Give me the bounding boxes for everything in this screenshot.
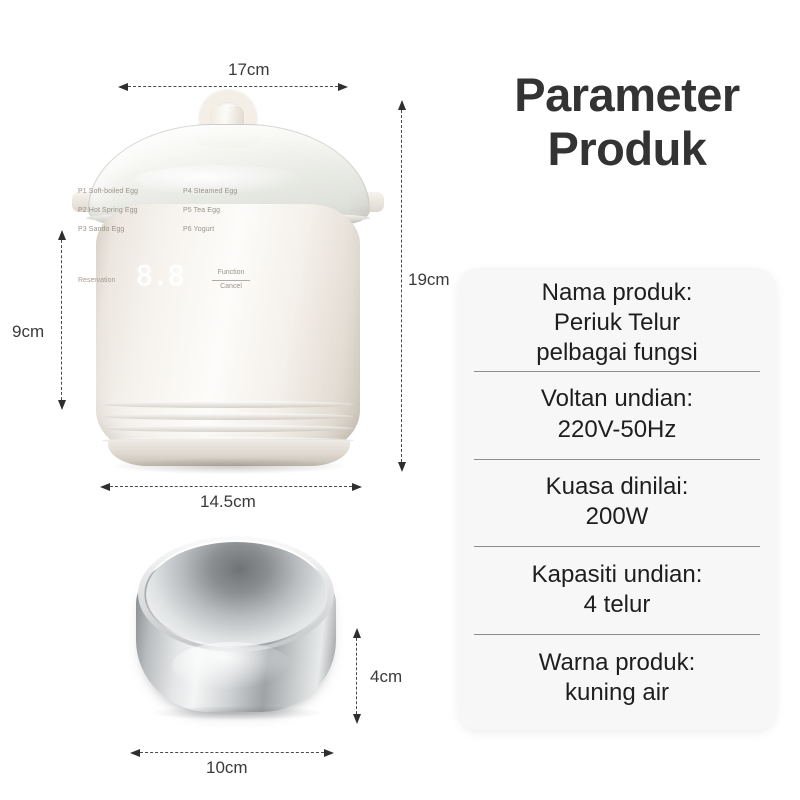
- dimension-arrow-bowl-diameter: [130, 748, 334, 757]
- program-label-p2[interactable]: P2 Hot Spring Egg: [78, 207, 164, 214]
- arrow-head-left-icon: [130, 749, 140, 757]
- spec-row-capacity: Kapasiti undian: 4 telur: [458, 546, 776, 634]
- cooker-rib: [102, 425, 354, 432]
- dimension-label-bowl-height: 4cm: [370, 667, 402, 687]
- spec-label: Nama produk:: [542, 278, 693, 308]
- bowl-highlight: [172, 642, 292, 690]
- cancel-label: Cancel: [206, 282, 256, 293]
- dimension-line: [356, 638, 357, 714]
- spec-value: kuning air: [565, 678, 669, 708]
- spec-row-power: Kuasa dinilai: 200W: [458, 459, 776, 547]
- spec-label: Voltan undian:: [541, 384, 693, 414]
- page-title: Parameter Produk: [462, 68, 792, 176]
- dimension-label-cooker-total-height: 19cm: [408, 270, 450, 290]
- dimension-line: [401, 110, 402, 462]
- dimension-arrow-cooker-total-height: [397, 100, 406, 472]
- arrow-head-right-icon: [352, 483, 362, 491]
- arrow-head-down-icon: [353, 714, 361, 724]
- dimension-label-cooker-body-height: 9cm: [12, 322, 44, 342]
- dimension-line: [140, 752, 324, 753]
- arrow-head-left-icon: [118, 83, 128, 91]
- arrow-head-down-icon: [58, 400, 66, 410]
- control-panel-bottom-row: Reservation 8.8 Function Cancel: [78, 266, 258, 296]
- program-label-p6[interactable]: P6 Yogurt: [183, 226, 269, 233]
- dimension-line: [61, 240, 62, 400]
- dimension-label-cooker-top-width: 17cm: [228, 60, 270, 80]
- steel-bowl-image: [128, 538, 344, 728]
- dimension-line: [110, 486, 352, 487]
- reservation-button[interactable]: Reservation: [78, 277, 115, 284]
- program-label-p4[interactable]: P4 Steamed Egg: [183, 188, 269, 195]
- function-cancel-divider: [212, 280, 250, 281]
- program-label-p1[interactable]: P1 Soft-boiled Egg: [78, 188, 164, 195]
- arrow-head-up-icon: [398, 100, 406, 110]
- dimension-label-bowl-diameter: 10cm: [206, 758, 248, 778]
- arrow-head-up-icon: [58, 230, 66, 240]
- dimension-arrow-bowl-height: [352, 628, 361, 724]
- spec-value: 220V-50Hz: [558, 415, 677, 445]
- cooker-rib: [102, 401, 354, 408]
- spec-value: 4 telur: [584, 590, 651, 620]
- arrow-head-right-icon: [338, 83, 348, 91]
- function-cancel-button[interactable]: Function Cancel: [206, 268, 256, 293]
- cooker-rib: [102, 413, 354, 420]
- spec-value: 200W: [586, 502, 649, 532]
- program-label-p5[interactable]: P5 Tea Egg: [183, 207, 269, 214]
- infographic-canvas: Parameter Produk Nama produk: Periuk Tel…: [0, 0, 800, 800]
- dimension-line: [128, 86, 338, 87]
- cooker-drop-shadow: [112, 458, 346, 474]
- page-title-line-1: Parameter: [462, 68, 792, 122]
- program-column-right: P4 Steamed Egg P5 Tea Egg P6 Yogurt: [183, 188, 269, 245]
- arrow-head-down-icon: [398, 462, 406, 472]
- spec-label: Kapasiti undian:: [532, 560, 703, 590]
- control-panel: P1 Soft-boiled Egg P2 Hot Spring Egg P3 …: [78, 188, 258, 298]
- function-label: Function: [206, 268, 256, 279]
- dimension-arrow-cooker-top-width: [118, 82, 348, 91]
- program-label-p3[interactable]: P3 Sando Egg: [78, 226, 164, 233]
- spec-row-color: Warna produk: kuning air: [458, 634, 776, 722]
- spec-label: Kuasa dinilai:: [546, 472, 689, 502]
- arrow-head-up-icon: [353, 628, 361, 638]
- dimension-arrow-cooker-base-width: [100, 482, 362, 491]
- program-column-left: P1 Soft-boiled Egg P2 Hot Spring Egg P3 …: [78, 188, 164, 245]
- arrow-head-right-icon: [324, 749, 334, 757]
- page-title-line-2: Produk: [462, 122, 792, 176]
- digital-display: 8.8: [136, 262, 184, 290]
- spec-row-product-name: Nama produk: Periuk Telur pelbagai fungs…: [458, 276, 776, 371]
- spec-label: Warna produk:: [539, 648, 696, 678]
- arrow-head-left-icon: [100, 483, 110, 491]
- bowl-drop-shadow: [152, 706, 322, 720]
- spec-row-voltage: Voltan undian: 220V-50Hz: [458, 371, 776, 459]
- dimension-label-cooker-base-width: 14.5cm: [200, 492, 256, 512]
- bowl-rim: [138, 536, 334, 652]
- dimension-arrow-cooker-body-height: [57, 230, 66, 410]
- spec-value: Periuk Telur pelbagai fungsi: [536, 308, 697, 368]
- product-spec-card: Nama produk: Periuk Telur pelbagai fungs…: [458, 268, 776, 730]
